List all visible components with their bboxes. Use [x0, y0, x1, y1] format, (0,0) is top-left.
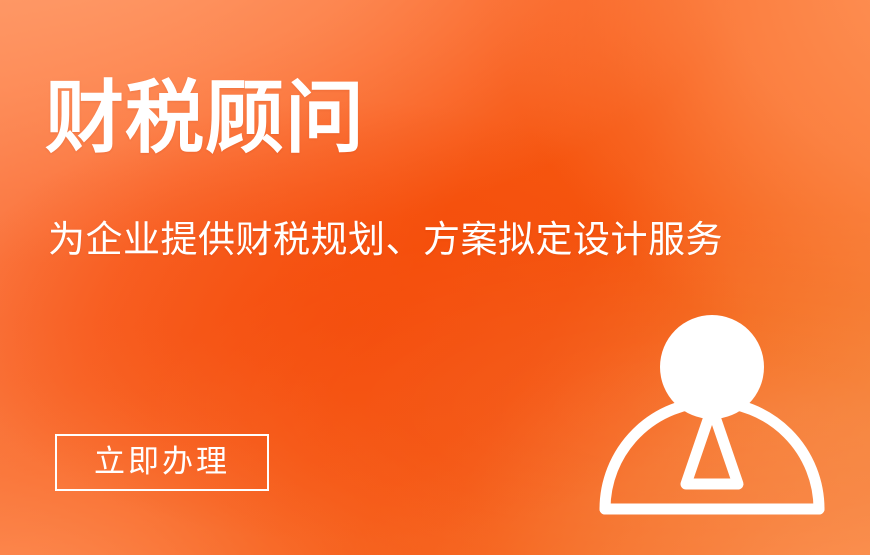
banner-content: 财税顾问 为企业提供财税规划、方案拟定设计服务 立即办理: [0, 0, 870, 555]
apply-now-button[interactable]: 立即办理: [55, 434, 269, 491]
banner-subheadline: 为企业提供财税规划、方案拟定设计服务: [48, 219, 723, 262]
person-tie-triangle: [686, 408, 738, 484]
banner-headline: 财税顾问: [45, 77, 365, 159]
person-advisor-icon: [592, 305, 832, 527]
promo-banner: 财税顾问 为企业提供财税规划、方案拟定设计服务 立即办理: [0, 0, 870, 555]
